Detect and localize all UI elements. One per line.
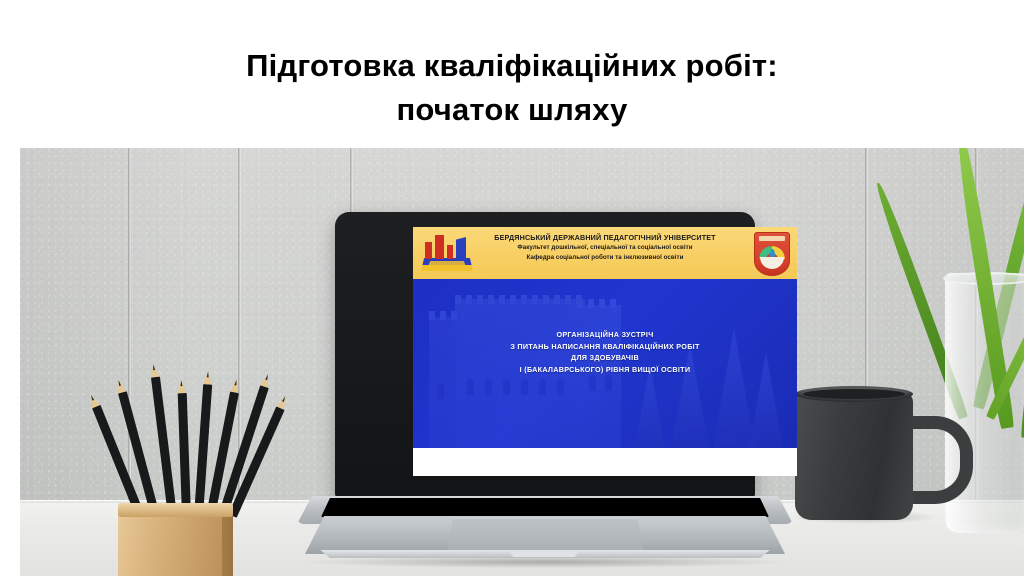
- coat-of-arms-icon: [754, 232, 790, 276]
- watermark-window: [521, 379, 528, 395]
- watermark-tree: [635, 364, 665, 448]
- watermark-window: [503, 379, 510, 395]
- slide-header-band: БЕРДЯНСЬКИЙ ДЕРЖАВНИЙ ПЕДАГОГІЧНИЙ УНІВЕ…: [413, 227, 797, 279]
- watermark-crenellation: [577, 299, 621, 308]
- watermark-tower: [577, 305, 621, 448]
- holder-rim: [118, 503, 233, 517]
- slide-body-line-4: І (БАКАЛАВРСЬКОГО) РІВНЯ ВИЩОЇ ОСВІТИ: [413, 364, 797, 376]
- arms-bowl: [760, 257, 784, 269]
- holder-body: [118, 508, 222, 576]
- slide-footer-strip: [413, 448, 797, 476]
- university-name: БЕРДЯНСЬКИЙ ДЕРЖАВНИЙ ПЕДАГОГІЧНИЙ УНІВЕ…: [479, 233, 731, 243]
- watermark-window: [467, 379, 474, 395]
- wall-seam: [128, 148, 131, 513]
- emblem-base-inner: [427, 261, 467, 269]
- faculty-name: Факультет дошкільної, спеціальної та соц…: [479, 243, 731, 252]
- watermark-crenellation: [455, 295, 585, 304]
- title-line-1: Підготовка кваліфікаційних робіт:: [0, 44, 1024, 88]
- bdpu-emblem-icon: [421, 233, 473, 273]
- watermark-window: [485, 379, 492, 395]
- slide-body-line-1: ОРГАНІЗАЦІЙНА ЗУСТРІЧ: [413, 329, 797, 341]
- title-line-2: початок шляху: [0, 88, 1024, 132]
- watermark-window: [437, 383, 444, 399]
- slide-header-text: БЕРДЯНСЬКИЙ ДЕРЖАВНИЙ ПЕДАГОГІЧНИЙ УНІВЕ…: [479, 233, 731, 262]
- slide-body-text: ОРГАНІЗАЦІЙНА ЗУСТРІЧ З ПИТАНЬ НАПИСАННЯ…: [413, 329, 797, 376]
- watermark-crenellation: [429, 311, 463, 320]
- laptop-lid: БЕРДЯНСЬКИЙ ДЕРЖАВНИЙ ПЕДАГОГІЧНИЙ УНІВЕ…: [335, 212, 755, 498]
- mug-interior: [803, 389, 905, 399]
- arms-banner: [759, 236, 785, 241]
- laptop-screen: БЕРДЯНСЬКИЙ ДЕРЖАВНИЙ ПЕДАГОГІЧНИЙ УНІВЕ…: [413, 227, 797, 476]
- laptop-front-notch: [511, 552, 577, 557]
- emblem-book: [456, 237, 466, 259]
- watermark-window: [605, 375, 612, 391]
- watermark-window: [539, 379, 546, 395]
- slide-body: ОРГАНІЗАЦІЙНА ЗУСТРІЧ З ПИТАНЬ НАПИСАННЯ…: [413, 279, 797, 448]
- page-title: Підготовка кваліфікаційних робіт: почато…: [0, 44, 1024, 132]
- slide-body-line-3: ДЛЯ ЗДОБУВАЧІВ: [413, 352, 797, 364]
- laptop-on-desk-photo: БЕРДЯНСЬКИЙ ДЕРЖАВНИЙ ПЕДАГОГІЧНИЙ УНІВЕ…: [20, 148, 1024, 576]
- presentation-slide: Підготовка кваліфікаційних робіт: почато…: [0, 0, 1024, 576]
- emblem-pillar: [447, 245, 453, 259]
- watermark-window: [557, 379, 564, 395]
- laptop-keyboard: [321, 498, 769, 517]
- emblem-pillar: [425, 242, 432, 259]
- watermark-window: [589, 375, 596, 391]
- laptop: БЕРДЯНСЬКИЙ ДЕРЖАВНИЙ ПЕДАГОГІЧНИЙ УНІВЕ…: [275, 212, 815, 576]
- laptop-trackpad: [447, 518, 643, 551]
- department-name: Кафедра соціальної роботи та інклюзивної…: [479, 253, 731, 262]
- emblem-pillar: [435, 235, 444, 259]
- slide-body-line-2: З ПИТАНЬ НАПИСАННЯ КВАЛІФІКАЦІЙНИХ РОБІТ: [413, 341, 797, 353]
